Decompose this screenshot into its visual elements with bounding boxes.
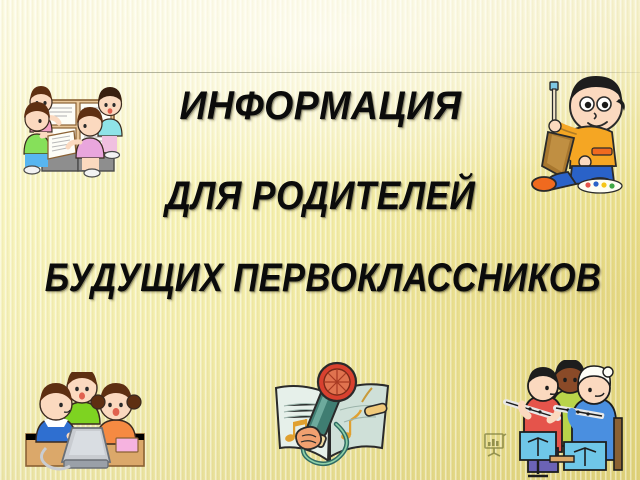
title-line-2-text: ДЛЯ РОДИТЕЛЕЙ: [165, 176, 475, 216]
projector-chart-icon: [483, 430, 507, 463]
children-at-computer-icon: [24, 372, 148, 476]
title-line-3-reflection: БУДУЩИХ ПЕРВОКЛАССНИКОВ: [0, 299, 640, 335]
boy-painting-icon: [528, 72, 636, 194]
children-playing-flutes-icon: [498, 360, 640, 478]
title-line-1-text: ИНФОРМАЦИЯ: [179, 86, 461, 126]
title-line-2-reflection: ДЛЯ РОДИТЕЛЕЙ: [0, 217, 640, 253]
children-at-bookshelf-icon: [12, 74, 130, 180]
microphone-and-songbook-icon: [258, 352, 398, 478]
title-line-3-text: БУДУЩИХ ПЕРВОКЛАССНИКОВ: [45, 258, 602, 298]
title-line-3: БУДУЩИХ ПЕРВОКЛАССНИКОВ БУДУЩИХ ПЕРВОКЛА…: [0, 258, 640, 310]
slide-canvas: ИНФОРМАЦИЯ ИНФОРМАЦИЯ ДЛЯ РОДИТЕЛЕЙ ДЛЯ …: [0, 0, 640, 480]
